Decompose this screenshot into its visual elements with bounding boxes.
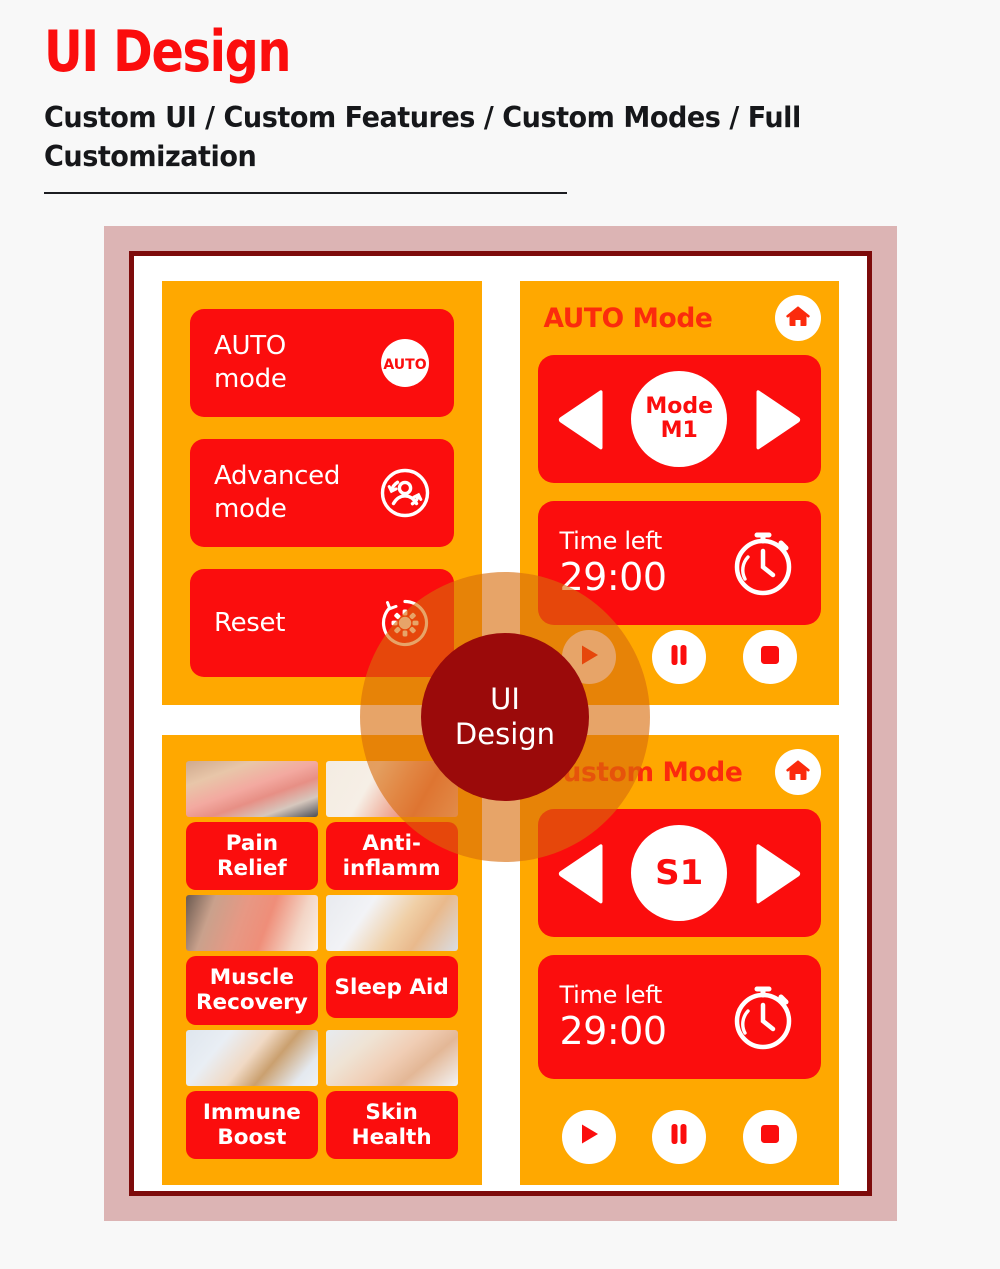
neck-massage-photo: [186, 761, 318, 817]
stopwatch-icon: [727, 981, 799, 1053]
pause-button[interactable]: [652, 1110, 706, 1164]
therapy-label: Sleep Aid: [326, 956, 458, 1018]
auto-mode-timer: Time left 29:00: [538, 501, 822, 625]
therapy-item[interactable]: Skin Health: [326, 1030, 458, 1159]
home-button[interactable]: [775, 295, 821, 341]
home-icon: [785, 757, 811, 788]
custom-mode-header: Custom Mode: [538, 749, 822, 795]
back-massage-photo: [186, 895, 318, 951]
custom-mode-value[interactable]: S1: [631, 825, 727, 921]
reset-button[interactable]: Reset: [190, 569, 454, 677]
auto-mode-value[interactable]: Mode M1: [631, 371, 727, 467]
auto-timer-value: 29:00: [560, 555, 667, 600]
facial-treatment-photo: [326, 1030, 458, 1086]
custom-mode-panel: Custom Mode S1 Time left 29:00: [520, 735, 840, 1185]
play-icon: [576, 642, 602, 673]
play-icon: [576, 1121, 602, 1152]
advanced-mode-button[interactable]: Advanced mode: [190, 439, 454, 547]
svg-text:AUTO: AUTO: [383, 357, 426, 373]
auto-timer-text: Time left 29:00: [560, 527, 667, 600]
header-divider: [44, 192, 567, 194]
play-button[interactable]: [562, 1110, 616, 1164]
stop-icon: [757, 1121, 783, 1152]
page-header: UI Design Custom UI / Custom Features / …: [0, 0, 1000, 194]
home-button[interactable]: [775, 749, 821, 795]
custom-mode-selector: S1: [538, 809, 822, 937]
custom-timer-value: 29:00: [560, 1009, 667, 1054]
pause-icon: [666, 642, 692, 673]
auto-mode-button[interactable]: AUTO mode AUTO: [190, 309, 454, 417]
custom-mode-transport: [538, 1105, 822, 1169]
sleeping-woman-photo: [326, 895, 458, 951]
home-icon: [785, 303, 811, 334]
stop-icon: [757, 642, 783, 673]
ui-design-badge: UI Design: [421, 633, 589, 801]
reset-label: Reset: [214, 607, 285, 640]
mode-selection-panel: AUTO mode AUTO Advanced mode: [162, 281, 482, 705]
auto-mode-panel: AUTO Mode Mode M1 Time left 29:00: [520, 281, 840, 705]
auto-badge-icon: AUTO: [378, 336, 432, 390]
pause-icon: [666, 1121, 692, 1152]
page-title: UI Design: [44, 22, 933, 84]
therapy-label: Immune Boost: [186, 1091, 318, 1159]
auto-mode-header: AUTO Mode: [538, 295, 822, 341]
arrow-left-icon[interactable]: [552, 386, 604, 452]
auto-mode-label: AUTO mode: [214, 330, 287, 396]
gear-reset-icon: [378, 596, 432, 650]
pause-button[interactable]: [652, 630, 706, 684]
stop-button[interactable]: [743, 630, 797, 684]
therapy-item[interactable]: Immune Boost: [186, 1030, 318, 1159]
therapy-grid: Pain Relief Anti- inflamm Muscle Recover…: [186, 761, 458, 1159]
therapy-item[interactable]: Muscle Recovery: [186, 895, 318, 1024]
auto-mode-selector: Mode M1: [538, 355, 822, 483]
therapy-selection-panel: Pain Relief Anti- inflamm Muscle Recover…: [162, 735, 482, 1185]
therapy-label: Skin Health: [326, 1091, 458, 1159]
auto-mode-title: AUTO Mode: [544, 303, 713, 334]
therapy-label: Pain Relief: [186, 822, 318, 890]
arrow-left-icon[interactable]: [552, 840, 604, 906]
stopwatch-icon: [727, 527, 799, 599]
advanced-mode-label: Advanced mode: [214, 460, 340, 526]
therapy-item[interactable]: Sleep Aid: [326, 895, 458, 1024]
skincare-headband-photo: [186, 1030, 318, 1086]
knee-massage-photo: [326, 761, 458, 817]
arrow-right-icon[interactable]: [755, 840, 807, 906]
custom-timer-text: Time left 29:00: [560, 981, 667, 1054]
custom-mode-timer: Time left 29:00: [538, 955, 822, 1079]
therapy-item[interactable]: Pain Relief: [186, 761, 318, 890]
therapy-label: Muscle Recovery: [186, 956, 318, 1024]
therapy-item[interactable]: Anti- inflamm: [326, 761, 458, 890]
arrow-right-icon[interactable]: [755, 386, 807, 452]
page-subtitle: Custom UI / Custom Features / Custom Mod…: [44, 98, 833, 176]
therapy-label: Anti- inflamm: [326, 822, 458, 890]
user-rotate-icon: [378, 466, 432, 520]
stop-button[interactable]: [743, 1110, 797, 1164]
custom-timer-label: Time left: [560, 981, 667, 1009]
auto-timer-label: Time left: [560, 527, 667, 555]
